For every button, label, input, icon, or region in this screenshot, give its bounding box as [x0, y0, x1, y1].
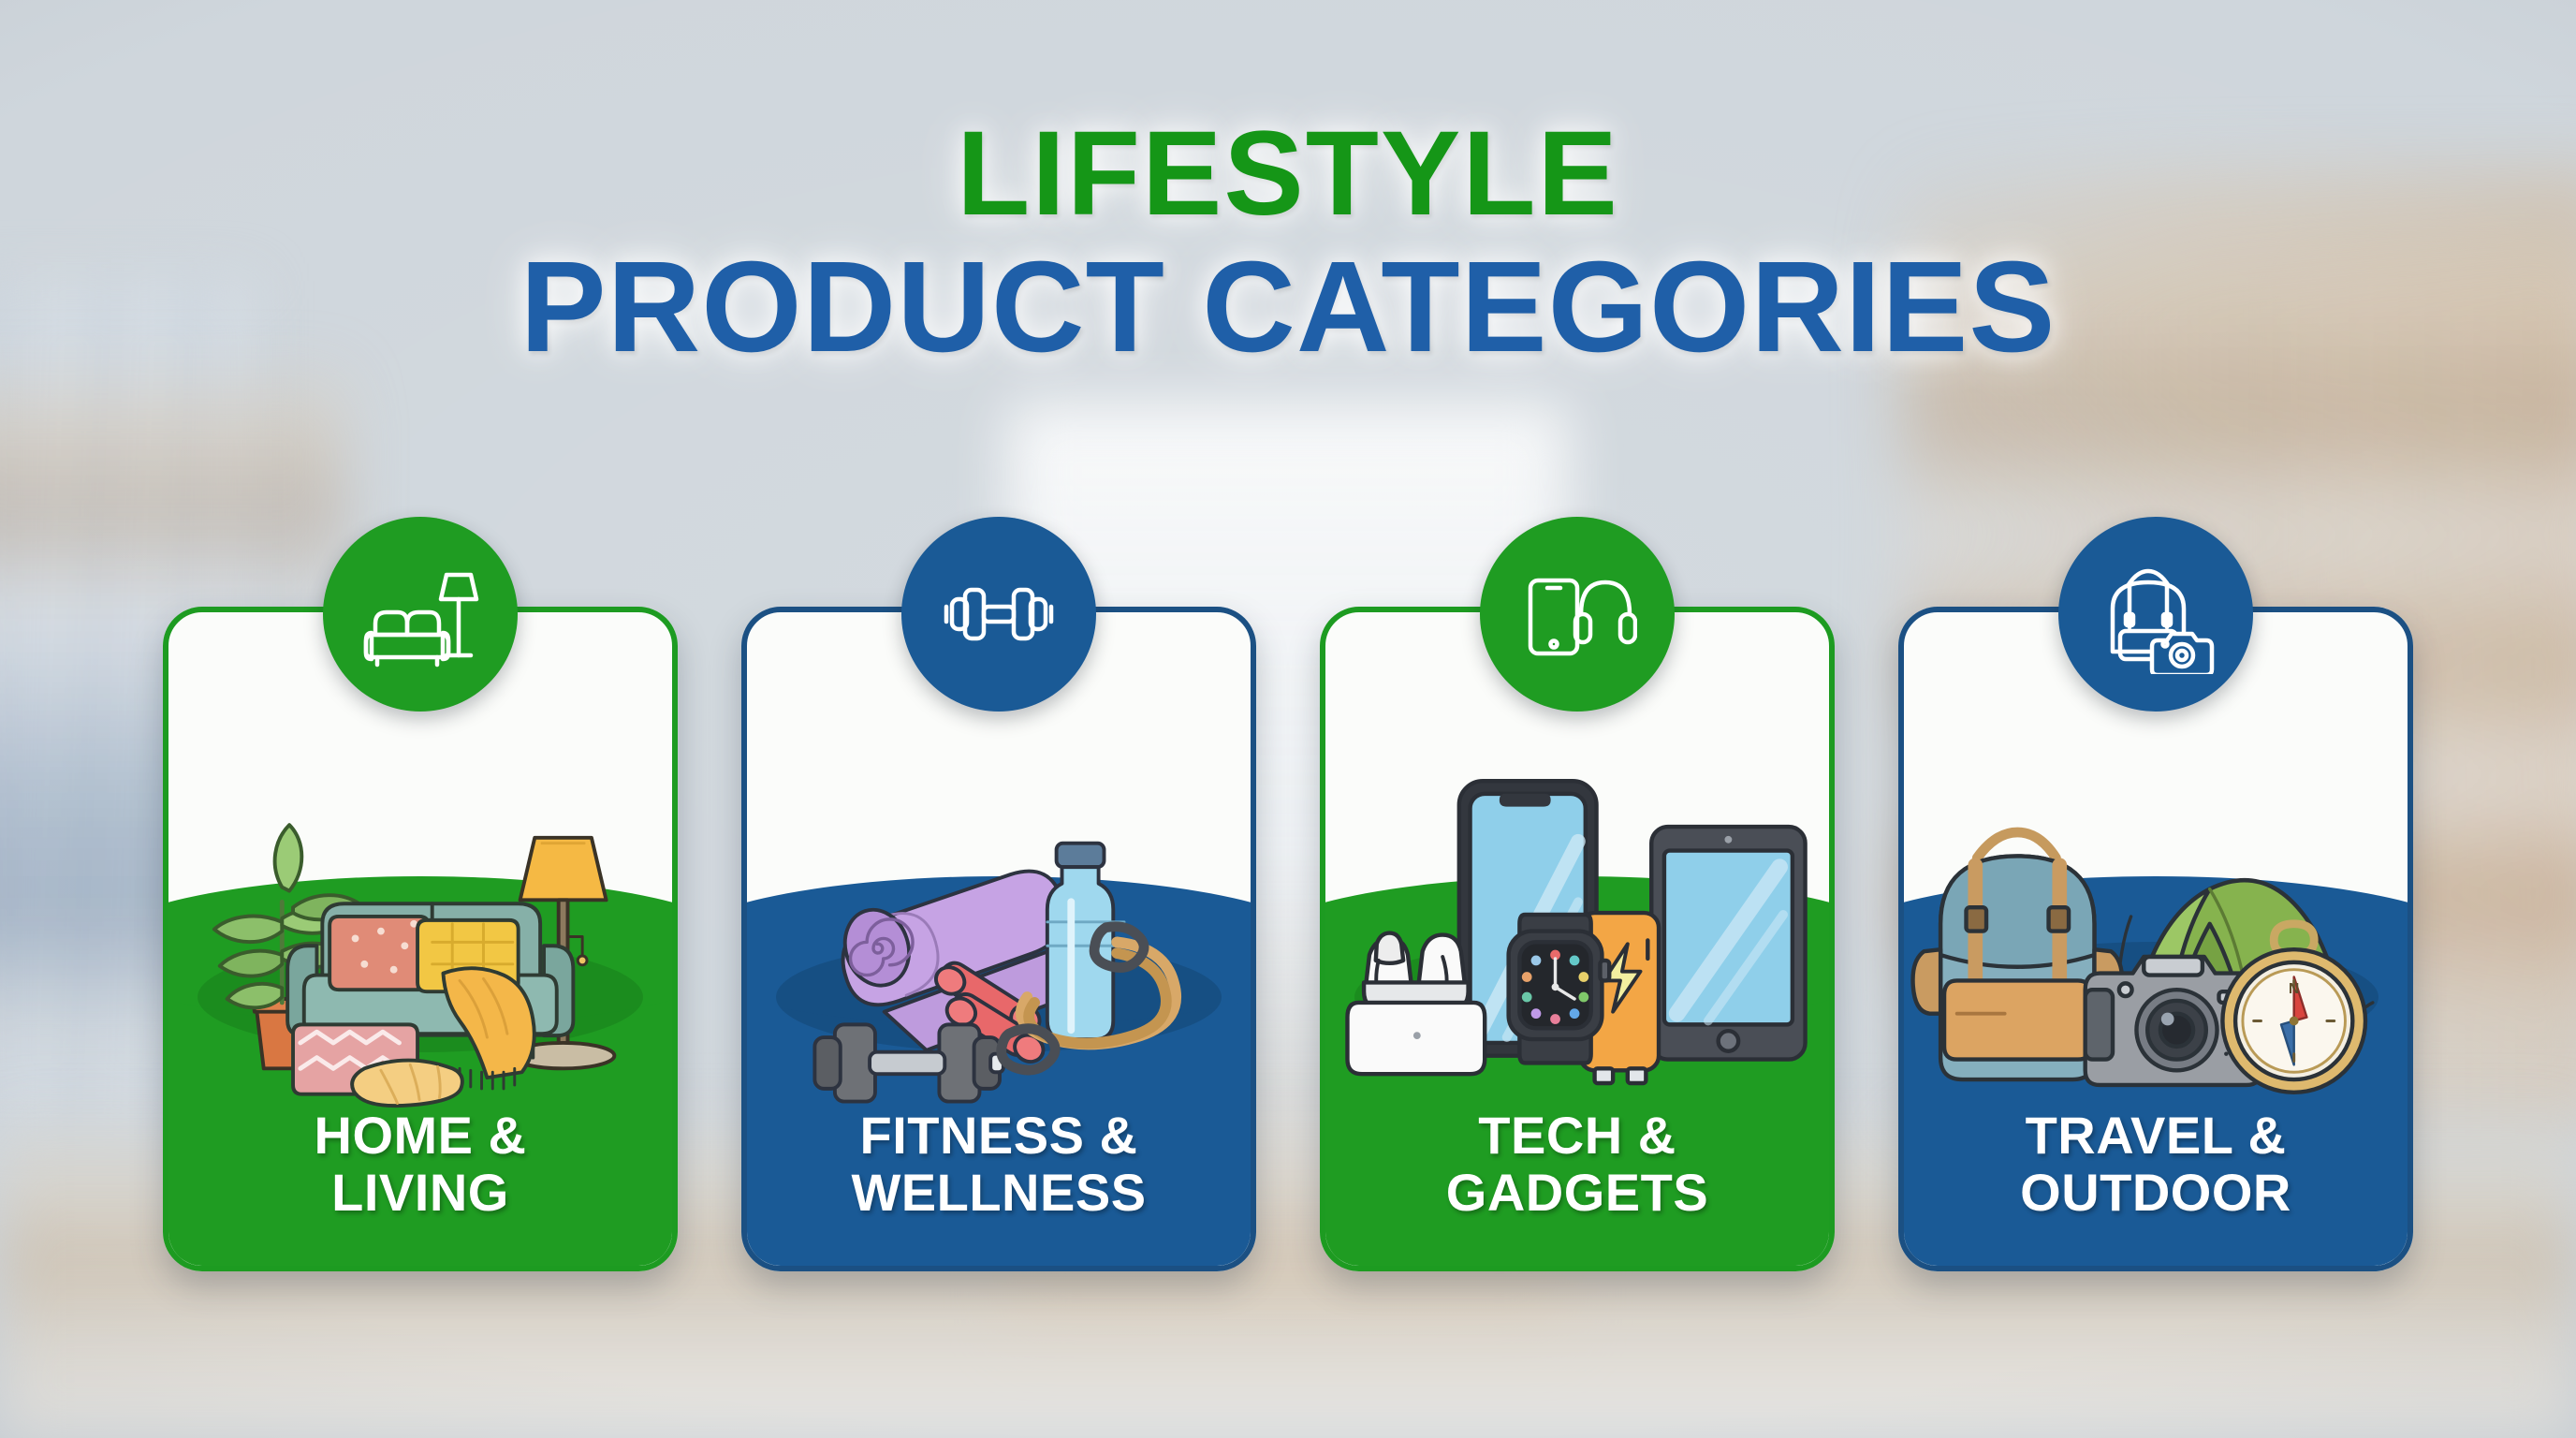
- travel-gear-illustration: N: [1904, 723, 2408, 1191]
- backpack-camera-icon: [2096, 554, 2216, 674]
- fitness-gear-illustration: [747, 723, 1251, 1191]
- tablet: [1651, 827, 1805, 1059]
- category-card-home-living[interactable]: HOME & LIVING: [163, 607, 678, 1271]
- phone-headphones-icon: [1517, 554, 1637, 674]
- category-card-travel-outdoor[interactable]: N TRAVEL & OUTDOOR: [1898, 607, 2413, 1271]
- title-line-primary: LIFESTYLE: [0, 114, 2576, 234]
- badge-home-living[interactable]: [323, 517, 518, 712]
- svg-text:N: N: [2289, 981, 2299, 997]
- living-room-illustration: [168, 723, 672, 1191]
- category-card-fitness-wellness[interactable]: FITNESS & WELLNESS: [741, 607, 1256, 1271]
- page-title: LIFESTYLE PRODUCT CATEGORIES: [0, 114, 2576, 374]
- sofa-lamp-icon: [360, 554, 480, 674]
- badge-tech-gadgets[interactable]: [1480, 517, 1675, 712]
- infographic-canvas: LIFESTYLE PRODUCT CATEGORIES: [0, 0, 2576, 1438]
- badge-fitness-wellness[interactable]: [901, 517, 1096, 712]
- title-line-secondary: PRODUCT CATEGORIES: [0, 242, 2576, 374]
- badge-travel-outdoor[interactable]: [2058, 517, 2253, 712]
- dumbbell-icon: [939, 554, 1059, 674]
- tech-devices-illustration: [1325, 723, 1829, 1191]
- category-card-tech-gadgets[interactable]: TECH & GADGETS: [1320, 607, 1835, 1271]
- category-card-row: HOME & LIVING: [0, 607, 2576, 1281]
